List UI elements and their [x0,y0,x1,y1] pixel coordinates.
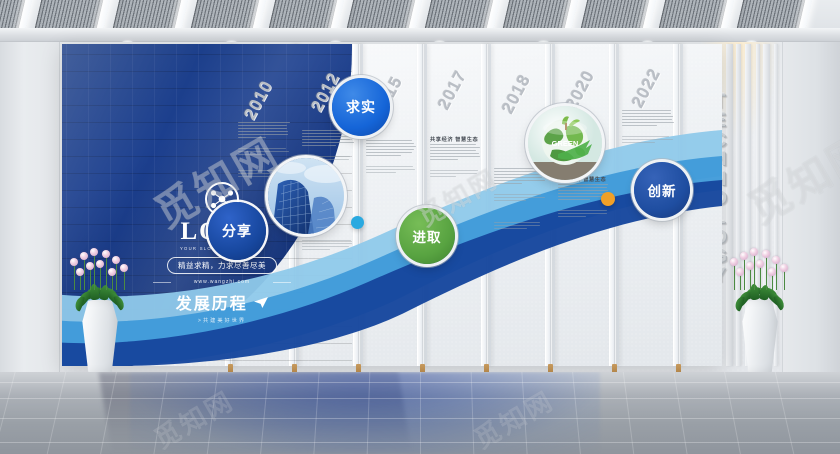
orchid-bloom [736,268,744,276]
plant-left [62,244,138,372]
plant-stem [754,254,755,290]
plant-stem [100,266,101,290]
placeholder-paragraph [494,222,546,231]
orchid-bloom [762,250,770,258]
orchid-bloom [772,256,780,264]
placeholder-paragraph [622,110,674,128]
plant-stem [80,274,81,290]
badge-share-label: 分享 [222,221,252,241]
floor [0,372,840,454]
placeholder-paragraph [430,144,482,162]
placeholder-paragraph [238,148,290,157]
badge-enterprise-label: 进取 [413,226,442,246]
board-slat-divider [422,44,424,366]
placeholder-paragraph [366,166,418,175]
plant-stem [760,266,761,290]
plant-stem [116,262,117,290]
placeholder-paragraph [238,122,290,140]
placeholder-paragraph [430,170,482,179]
plant-stem [740,274,741,290]
placeholder-paragraph [558,210,610,219]
white-ceramic-vase [739,300,781,372]
orchid-bloom [780,264,788,272]
orchid-bloom [76,268,84,276]
plant-stem [74,264,75,290]
orchid-bloom [756,260,764,268]
badge-enterprise[interactable]: 进取 [399,208,455,264]
board-title-cn: 发展历程 [157,290,287,314]
plant-stem [744,258,745,290]
orchid-bloom [120,264,128,272]
green-globe-photo: GREEN [528,106,602,180]
svg-text:GREEN: GREEN [552,139,579,148]
plant-stem [90,268,91,290]
badge-share[interactable]: 分享 [208,202,266,260]
orchid-bloom [750,248,758,256]
orange-dot [601,192,615,206]
plant-stem [94,254,95,290]
orchid-bloom [768,268,776,276]
logo-url: www.wangzhi.com [157,279,287,285]
orchid-bloom [90,248,98,256]
badge-innovate[interactable]: 创新 [634,162,690,218]
exhibition-hall-scene: TECHNOLOGY [0,0,840,454]
logo-motto: 精益求精，力求尽善尽美 [167,257,277,274]
board-subtitle-cn: >共建美好世界 [157,317,287,324]
orchid-bloom [108,268,116,276]
wall-left-panel [0,42,60,372]
orchid-bloom [102,250,110,258]
placeholder-paragraph [494,168,546,186]
placeholder-paragraph [302,240,354,252]
placeholder-paragraph [366,140,418,158]
plant-stem [84,258,85,290]
cyan-dot [351,216,364,229]
placeholder-paragraph [302,130,354,148]
placeholder-paragraph [494,194,546,203]
placeholder-paragraph [622,136,674,145]
board-slat-divider [550,44,552,366]
plant-stem [106,256,107,290]
orchid-bloom [746,262,754,270]
orchid-bloom [740,252,748,260]
orchid-bloom [730,258,738,266]
culture-wall-board: LOGO YOUR SLOGAN GOES HERE 精益求精，力求尽善尽美 w… [62,44,722,366]
badge-seek-truth-label: 求实 [346,97,376,117]
floor-sheen [0,372,840,454]
badge-innovate-label: 创新 [648,180,677,200]
plant-leaf [773,294,786,311]
plant-stem [776,262,777,290]
panel-heading: 共享经济 智慧生态 [430,136,478,143]
white-ceramic-vase [79,300,121,372]
plant-stem [734,264,735,290]
orchid-bloom [80,252,88,260]
plant-stem [750,268,751,290]
paper-plane-icon [254,297,268,308]
orchid-bloom [70,258,78,266]
board-slat-divider [614,44,616,366]
plant-stem [784,270,785,290]
plant-stem [772,274,773,290]
badge-seek-truth[interactable]: 求实 [332,78,390,136]
plant-stem [124,270,125,290]
plant-stem [112,274,113,290]
orchid-bloom [86,262,94,270]
skyscraper-photo [268,158,344,234]
plant-stem [766,256,767,290]
board-slat-divider [486,44,488,366]
orchid-bloom [96,260,104,268]
plant-right [722,244,798,372]
orchid-bloom [112,256,120,264]
plant-leaf [113,294,126,311]
